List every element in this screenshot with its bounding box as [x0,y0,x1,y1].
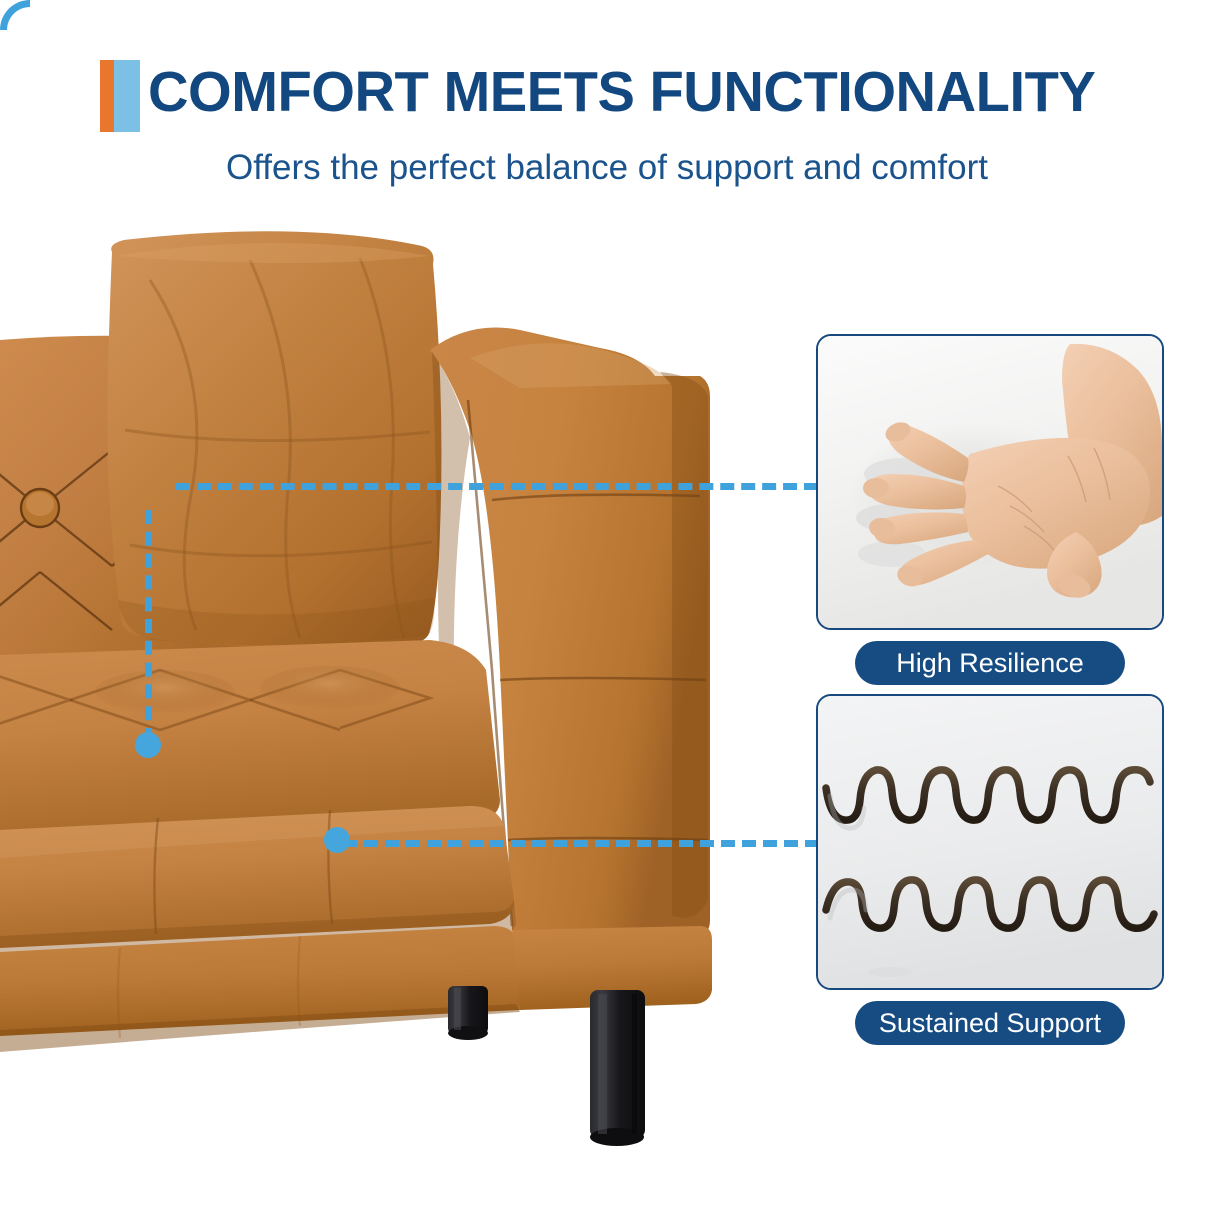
page-title: COMFORT MEETS FUNCTIONALITY [148,54,1133,130]
accent-bar-blue [114,60,140,132]
serpentine-springs-image [818,696,1162,988]
callout-line-resilience-vertical [145,510,152,742]
callout-line-resilience-horizontal [176,483,818,490]
hand-pressing-foam-image [818,336,1162,628]
sofa-illustration [0,200,800,1214]
badge-high-resilience: High Resilience [855,641,1125,685]
feature-panel-high-resilience [816,334,1164,630]
header: COMFORT MEETS FUNCTIONALITY Offers the p… [0,0,1214,200]
callout-dot-resilience [135,732,161,758]
sofa-leg-front [590,990,645,1146]
badge-sustained-support: Sustained Support [855,1001,1125,1045]
page-subtitle: Offers the perfect balance of support an… [0,146,1214,190]
callout-line-support-horizontal [343,840,819,847]
sofa-leg-back [448,986,488,1040]
sofa-product-image [0,200,800,1214]
feature-panel-sustained-support [816,694,1164,990]
callout-dot-support [324,827,350,853]
accent-bar-orange [100,60,114,132]
product-feature-infographic: COMFORT MEETS FUNCTIONALITY Offers the p… [0,0,1214,1214]
